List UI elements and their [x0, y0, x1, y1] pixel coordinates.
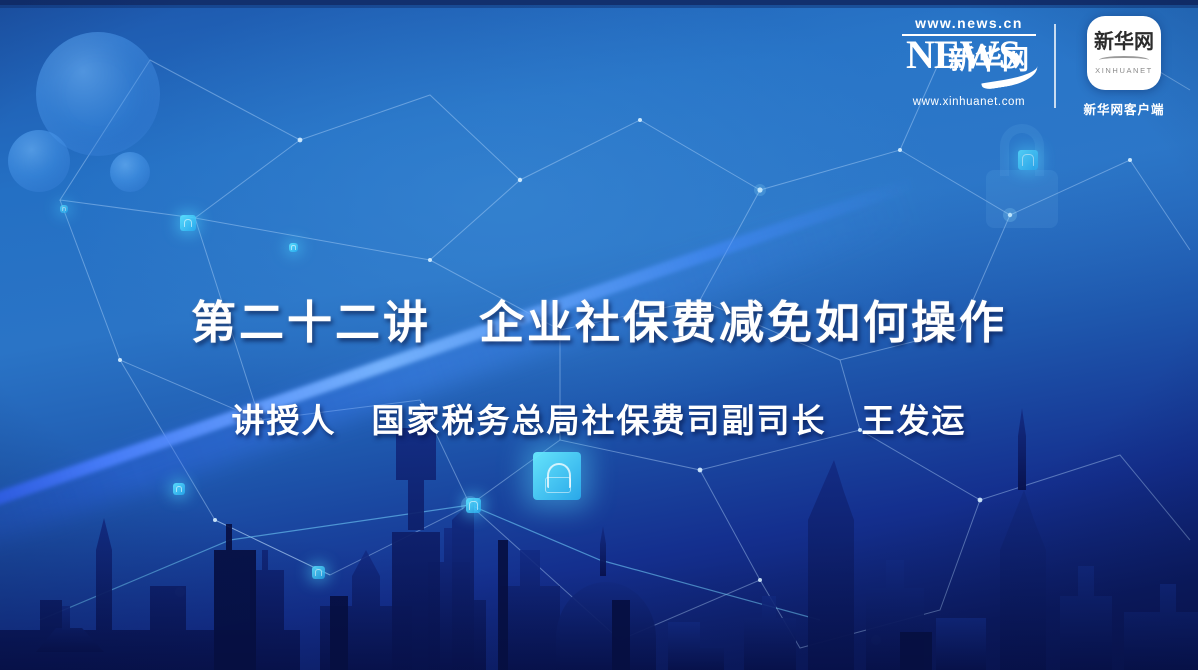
logo-divider [1054, 24, 1056, 108]
logo-mark: NEWS 新华网 [902, 38, 1036, 94]
xinhua-app-logo[interactable]: 新华网 XINHUANET 新华网客户端 [1072, 16, 1176, 118]
lock-tile-small-6 [173, 483, 185, 495]
lock-tile-small-3 [466, 498, 481, 513]
lock-tile-small-4 [312, 566, 325, 579]
padlock-watermark-icon [974, 118, 1070, 228]
app-icon-label-en: XINHUANET [1095, 67, 1153, 75]
logo-url-top: www.news.cn [902, 16, 1036, 30]
title-card: www.news.cn NEWS 新华网 www.xinhuanet.com 新… [0, 0, 1198, 670]
lock-tile-small-7 [60, 205, 68, 213]
lock-tile-icon [533, 452, 581, 500]
app-caption: 新华网客户端 [1072, 99, 1176, 118]
app-icon-arc [1099, 56, 1149, 64]
lock-tile-small-1 [180, 215, 196, 231]
page-subtitle: 讲授人 国家税务总局社保费司副司长 王发运 [0, 394, 1198, 442]
xinhua-news-logo[interactable]: www.news.cn NEWS 新华网 www.xinhuanet.com [902, 16, 1054, 109]
brand-logo-group: www.news.cn NEWS 新华网 www.xinhuanet.com 新… [902, 16, 1176, 118]
app-icon-label-cn: 新华网 [1094, 32, 1154, 52]
page-title: 第二十二讲 企业社保费减免如何操作 [0, 286, 1198, 351]
lock-tile-small-2 [289, 243, 298, 252]
logo-url-bottom: www.xinhuanet.com [902, 97, 1036, 109]
app-icon[interactable]: 新华网 XINHUANET [1087, 16, 1161, 90]
lock-tile-small-5 [1018, 150, 1038, 170]
